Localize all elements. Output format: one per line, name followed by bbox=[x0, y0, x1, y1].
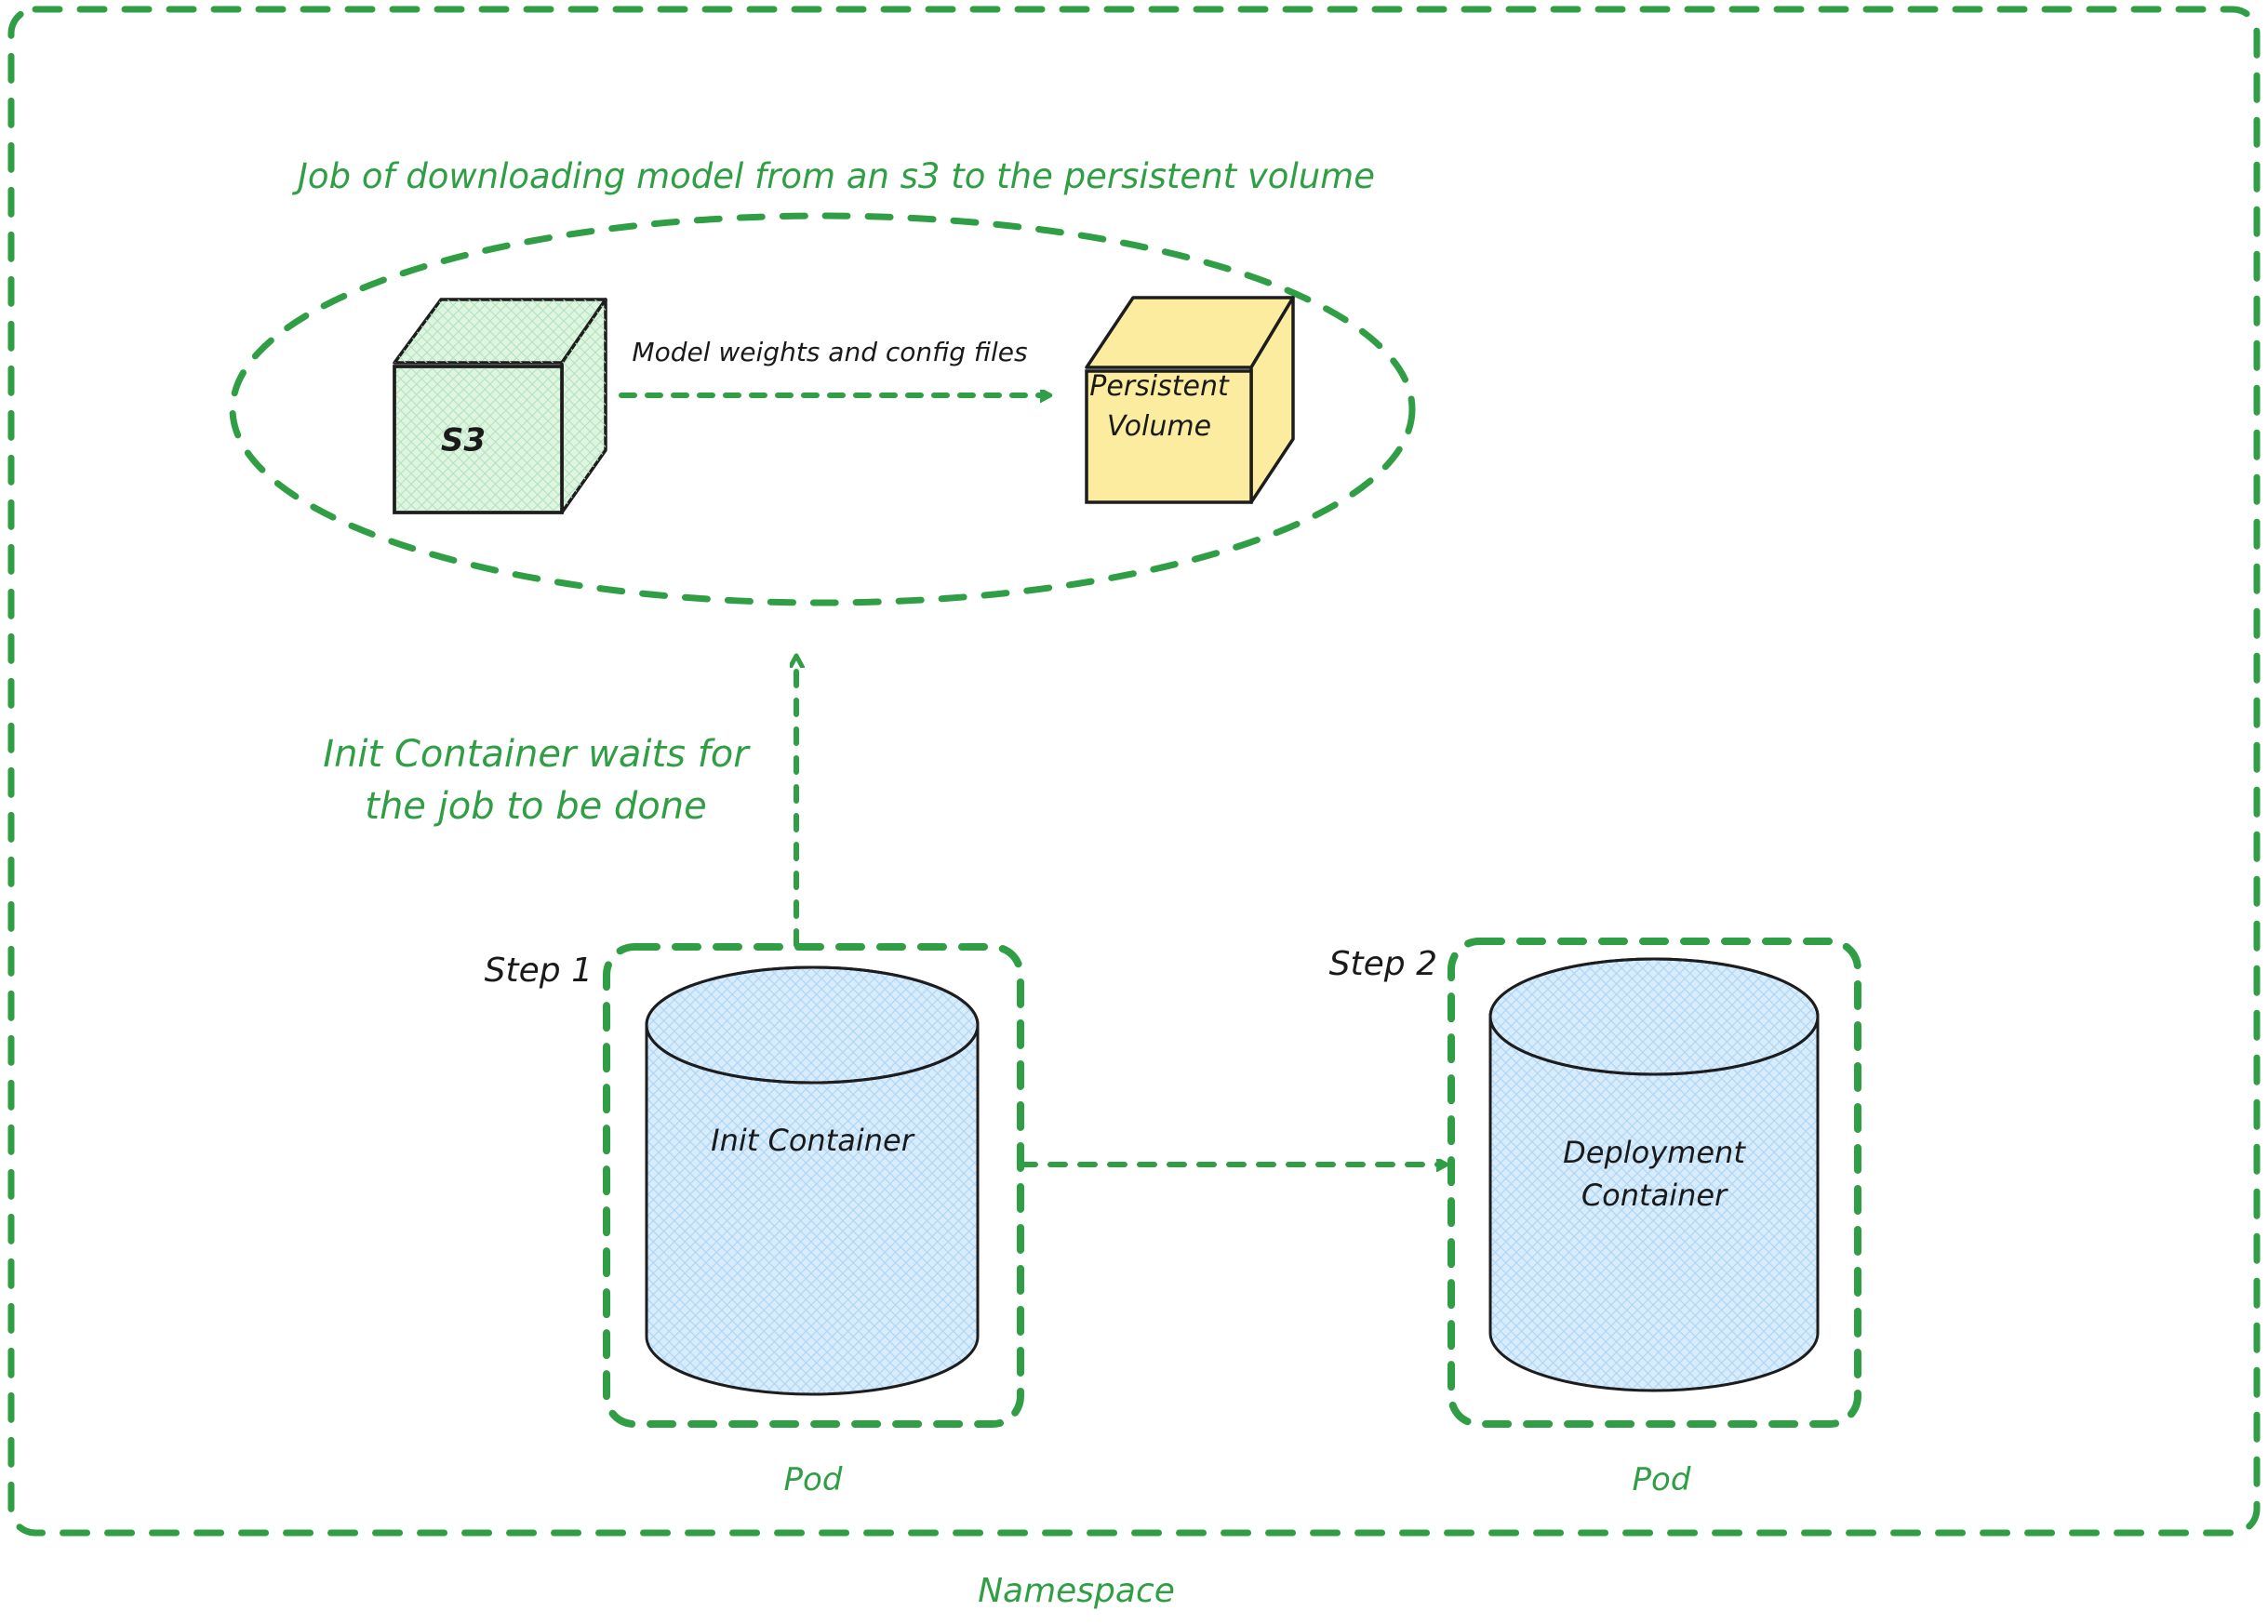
s3-label: S3 bbox=[441, 422, 486, 459]
pv-label-line1: Persistent bbox=[1089, 370, 1230, 403]
init-container-label: Init Container bbox=[711, 1123, 915, 1158]
wait-note-line1: Init Container waits for bbox=[323, 733, 751, 776]
pv-label-line2: Volume bbox=[1107, 410, 1211, 443]
wait-note-line2: the job to be done bbox=[365, 785, 706, 828]
pod-2-step-label: Step 2 bbox=[1329, 945, 1437, 983]
diagram-canvas: S3 Model weights and config files Persis… bbox=[0, 0, 2268, 1624]
pod-2-pod-label: Pod bbox=[1633, 1461, 1691, 1498]
edge-label-model-weights: Model weights and config files bbox=[632, 337, 1027, 367]
deployment-container-label-line2: Container bbox=[1581, 1178, 1728, 1213]
s3-cube: S3 bbox=[394, 300, 606, 512]
persistent-volume-cube: Persistent Volume bbox=[1087, 298, 1293, 502]
pod-1-step-label: Step 1 bbox=[485, 952, 593, 990]
namespace-label: Namespace bbox=[978, 1572, 1175, 1610]
deployment-container-label-line1: Deployment bbox=[1563, 1135, 1746, 1170]
init-container-cylinder: Init Container bbox=[647, 967, 978, 1394]
deployment-container-cylinder: Deployment Container bbox=[1490, 959, 1818, 1391]
pod-1-pod-label: Pod bbox=[784, 1461, 843, 1498]
diagram-svg: S3 Model weights and config files Persis… bbox=[0, 0, 2268, 1624]
job-title-note: Job of downloading model from an s3 to t… bbox=[291, 156, 1375, 196]
